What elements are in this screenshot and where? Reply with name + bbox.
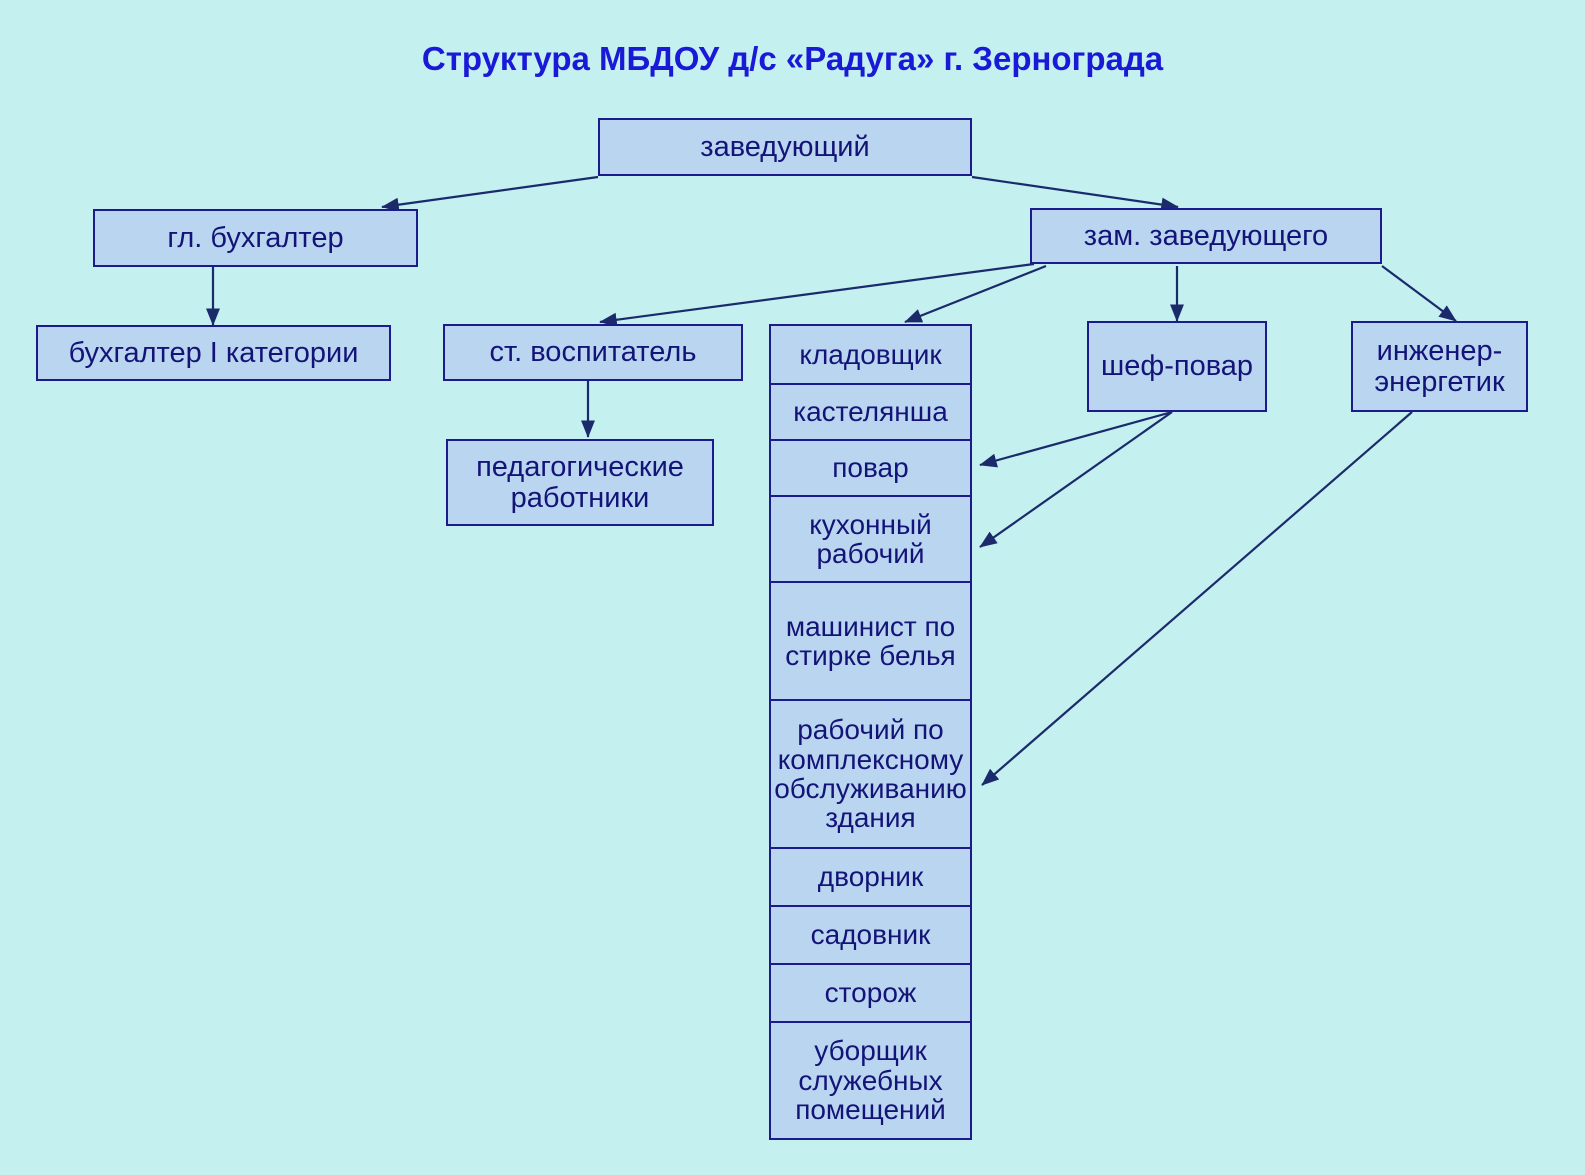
node-pedagogical-staff-label: педагогические работники (452, 452, 708, 513)
node-accountant-category-1-label: бухгалтер I категории (69, 338, 359, 369)
node-power-engineer[interactable]: инженер-энергетик (1351, 321, 1528, 412)
staff-label: дворник (818, 862, 923, 891)
support-staff-stack: кладовщик кастелянша повар кухонный рабо… (769, 324, 972, 1140)
staff-label: сторож (825, 978, 917, 1007)
list-item[interactable]: садовник (771, 907, 970, 965)
node-pedagogical-staff[interactable]: педагогические работники (446, 439, 714, 526)
node-chief-accountant[interactable]: гл. бухгалтер (93, 209, 418, 267)
list-item[interactable]: уборщик служебных помещений (771, 1023, 970, 1138)
edge-chef-to-cook (980, 412, 1172, 465)
node-head-label: заведующий (700, 132, 869, 163)
list-item[interactable]: сторож (771, 965, 970, 1023)
list-item[interactable]: повар (771, 441, 970, 497)
staff-label: кастелянша (793, 397, 948, 426)
list-item[interactable]: дворник (771, 849, 970, 907)
list-item[interactable]: кладовщик (771, 326, 970, 385)
page-title: Структура МБДОУ д/с «Радуга» г. Зерногра… (0, 40, 1585, 78)
edge-head-to-deputy-head (972, 177, 1178, 207)
node-chief-accountant-label: гл. бухгалтер (167, 223, 343, 254)
list-item[interactable]: кастелянша (771, 385, 970, 441)
list-item[interactable]: кухонный рабочий (771, 497, 970, 583)
node-accountant-category-1[interactable]: бухгалтер I категории (36, 325, 391, 381)
staff-label: рабочий по комплексному обслуживанию зда… (774, 715, 967, 833)
edge-deputy-to-senior-teacher (600, 264, 1034, 322)
edge-power-engineer-to-maintenance-worker (982, 412, 1412, 785)
node-head[interactable]: заведующий (598, 118, 972, 176)
node-senior-teacher-label: ст. воспитатель (490, 337, 697, 368)
staff-label: машинист по стирке белья (774, 612, 967, 671)
staff-label: кухонный рабочий (774, 510, 967, 569)
staff-label: повар (832, 453, 908, 482)
node-senior-teacher[interactable]: ст. воспитатель (443, 324, 743, 381)
staff-label: кладовщик (799, 340, 941, 369)
edge-deputy-to-power-engineer (1382, 266, 1456, 321)
staff-label: садовник (811, 920, 931, 949)
list-item[interactable]: рабочий по комплексному обслуживанию зда… (771, 701, 970, 849)
node-chef[interactable]: шеф-повар (1087, 321, 1267, 412)
node-deputy-head-label: зам. заведующего (1084, 221, 1328, 252)
org-chart-canvas: Структура МБДОУ д/с «Радуга» г. Зерногра… (0, 0, 1585, 1175)
staff-label: уборщик служебных помещений (774, 1036, 967, 1124)
node-chef-label: шеф-повар (1101, 351, 1253, 382)
edge-deputy-to-storekeeper (905, 266, 1046, 322)
edge-chef-to-kitchen-worker (980, 412, 1172, 547)
node-power-engineer-label: инженер-энергетик (1357, 336, 1522, 397)
node-deputy-head[interactable]: зам. заведующего (1030, 208, 1382, 264)
edge-head-to-chief-accountant (382, 177, 598, 207)
list-item[interactable]: машинист по стирке белья (771, 583, 970, 701)
